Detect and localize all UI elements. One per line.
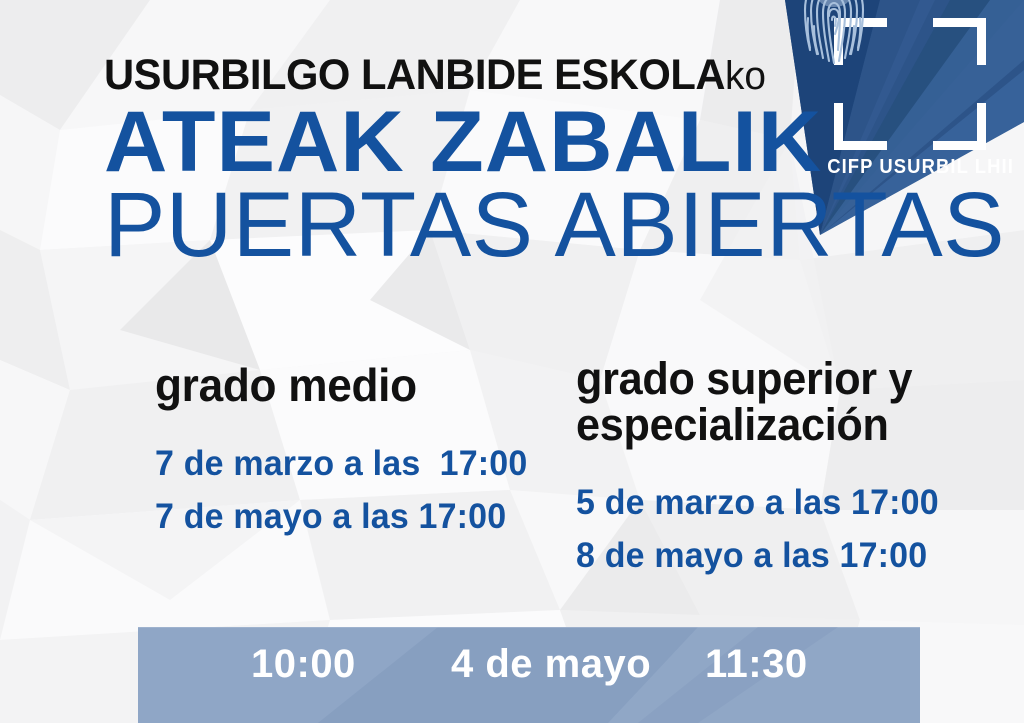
date-list-grado-medio: 7 de marzo a las 17:00 7 de mayo a las 1… xyxy=(155,437,555,543)
column-heading-grado-medio: grado medio xyxy=(155,362,539,409)
date-list-grado-superior: 5 de marzo a las 17:00 8 de mayo a las 1… xyxy=(576,476,976,582)
date-item: 7 de marzo a las 17:00 xyxy=(155,437,543,490)
column-heading-line-1: grado superior y xyxy=(576,356,960,402)
bar-time-right: 11:30 xyxy=(705,644,808,684)
poster-title-basque: ATEAK ZABALIK xyxy=(104,105,818,181)
date-item: 5 de marzo a las 17:00 xyxy=(576,476,964,529)
bottom-bar-content: 10:00 4 de mayo 11:30 xyxy=(138,627,920,723)
heading-block: USURBILGO LANBIDE ESKOLAko ATEAK ZABALIK… xyxy=(104,54,804,267)
date-item: 8 de mayo a las 17:00 xyxy=(576,529,964,582)
logo-inner: CIFP USURBIL LHII xyxy=(820,18,1000,179)
date-item: 7 de mayo a las 17:00 xyxy=(155,490,543,543)
column-heading-line-2: especialización xyxy=(576,402,960,448)
logo-bracket-frame xyxy=(834,18,986,150)
bracket-bottom-right-icon xyxy=(933,103,986,150)
fingerprint-icon xyxy=(796,0,872,70)
bar-time-left: 10:00 xyxy=(251,644,356,684)
column-grado-medio: grado medio 7 de marzo a las 17:00 7 de … xyxy=(155,362,555,543)
column-grado-superior: grado superior y especialización 5 de ma… xyxy=(576,356,976,582)
poster-eyebrow: USURBILGO LANBIDE ESKOLAko xyxy=(104,54,783,97)
bracket-top-right-icon xyxy=(933,18,986,65)
bar-date-center: 4 de mayo xyxy=(451,644,651,684)
eyebrow-suffix: ko xyxy=(725,54,766,98)
eyebrow-main: USURBILGO LANBIDE ESKOLA xyxy=(104,51,725,99)
open-days-poster: CIFP USURBIL LHII USURBILGO LANBIDE ESKO… xyxy=(0,0,1024,723)
poster-title-spanish: PUERTAS ABIERTAS xyxy=(104,183,804,268)
bottom-schedule-bar: 10:00 4 de mayo 11:30 xyxy=(138,627,920,723)
bracket-bottom-left-icon xyxy=(834,103,887,150)
column-heading-grado-superior: grado superior y especialización xyxy=(576,356,960,448)
